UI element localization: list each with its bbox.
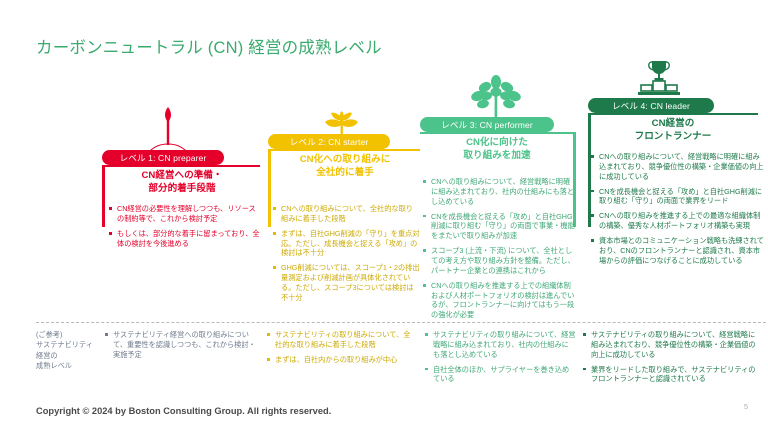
list-item: サステナビリティの取り組みについて、経営戦略に組み込まれており、社内の仕組みにも…	[424, 330, 576, 360]
reference-column-3: サステナビリティの取り組みについて、経営戦略に組み込まれており、社内の仕組みにも…	[424, 330, 576, 389]
page-title: カーボンニュートラル (CN) 経営の成熟レベル	[36, 34, 382, 58]
list-item: もしくは、部分的な着手に留まっており、全体の検討を今後進める	[108, 229, 260, 249]
level-rule-horizontal-2	[268, 149, 420, 151]
level-rule-horizontal-3	[420, 132, 576, 134]
seed-sprout-icon	[138, 99, 198, 156]
list-item: CNへの取り組みについて、全社的な取り組みに着手した段階	[272, 204, 420, 224]
list-item: GHG削減については、スコープ1・2の排出量測定および削減計画が具体化されている…	[272, 263, 420, 302]
list-item: CNへの取り組みを推進する上での最適な組織体制の構築、優秀な人材ポートフォリオ構…	[590, 211, 764, 231]
reference-column-2: サステナビリティの取り組みについて、全社的な取り組みに着手した段階 まずは、自社…	[266, 330, 416, 370]
level-bullets-3: CNへの取り組みについて、経営戦略に明確に組み込まれており、社内の仕組みにも落と…	[422, 177, 576, 325]
level-badge-2[interactable]: レベル 2: CN starter	[268, 134, 390, 149]
level-rule-horizontal-4	[588, 113, 758, 115]
list-item: スコープ3 (上流・下流) について、全社としての考え方や取り組み方針を整備。た…	[422, 246, 576, 276]
level-bullets-2: CNへの取り組みについて、全社的な取り組みに着手した段階 まずは、自社GHG削減…	[272, 204, 420, 308]
list-item: CNへの取り組みを推進する上での組織体制および人材ポートフォリオの検討は進んでい…	[422, 281, 576, 320]
reference-column-4: サステナビリティの取り組みについて、経営戦略に組み込まれており、競争優位性の構築…	[582, 330, 762, 389]
list-item: まずは、自社内からの取り組みが中心	[266, 355, 416, 365]
level-heading-4: CN経営のフロントランナー	[592, 118, 754, 144]
level-badge-1[interactable]: レベル 1: CN preparer	[102, 150, 224, 165]
slide-canvas: カーボンニュートラル (CN) 経営の成熟レベル レベル 1: CN prepa…	[0, 0, 768, 432]
section-divider	[36, 322, 766, 323]
list-item: 資本市場とのコミュニケーション戦略も洗練されており、CNのフロントランナーと認識…	[590, 236, 764, 266]
level-badge-3[interactable]: レベル 3: CN performer	[420, 117, 554, 132]
list-item: CNを成長機会と捉える「攻め」と自社GHG削減に取り組む「守り」の両面で業界をリ…	[590, 187, 764, 207]
list-item: CNを成長機会と捉える「攻め」と自社GHG削減に取り組む「守り」の両面で事業・機…	[422, 212, 576, 242]
list-item: まずは、自社GHG削減の「守り」を重点対応。ただし、成長機会と捉える「攻め」の検…	[272, 229, 420, 259]
list-item: サステナビリティの取り組みについて、全社的な取り組みに着手した段階	[266, 330, 416, 350]
level-heading-1: CN経営への準備・部分的着手段階	[104, 170, 260, 196]
level-badge-4[interactable]: レベル 4: CN leader	[588, 98, 714, 113]
level-heading-2: CN化への取り組みに全社的に着手	[270, 154, 420, 180]
list-item: CN経営の必要性を理解しつつも、リソースの制約等で、これから検討予定	[108, 204, 260, 224]
list-item: CNへの取り組みについて、経営戦略に明確に組み込まれており、社内の仕組みにも落と…	[422, 177, 576, 207]
list-item: 自社全体のほか、サプライヤーを巻き込めている	[424, 365, 576, 385]
list-item: 業界をリードした取り組みで、サステナビリティのフロントランナーと認識されている	[582, 365, 762, 385]
copyright-footer: Copyright © 2024 by Boston Consulting Gr…	[36, 406, 331, 416]
list-item: サステナビリティ経営への取り組みについて、重要性を認識しつつも、これから検討・実…	[104, 330, 256, 360]
page-number: 5	[744, 402, 748, 411]
level-bullets-4: CNへの取り組みについて、経営戦略に明確に組み込まれており、競争優位性の構築・企…	[590, 152, 764, 271]
level-bullets-1: CN経営の必要性を理解しつつも、リソースの制約等で、これから検討予定 もしくは、…	[108, 204, 260, 253]
list-item: CNへの取り組みについて、経営戦略に明確に組み込まれており、競争優位性の構築・企…	[590, 152, 764, 182]
list-item: サステナビリティの取り組みについて、経営戦略に組み込まれており、競争優位性の構築…	[582, 330, 762, 360]
level-rule-horizontal-1	[102, 165, 260, 167]
level-heading-3: CN化に向けた取り組みを加速	[422, 137, 572, 163]
reference-row-label: (ご参考)サステナビリティ経営の成熟レベル	[36, 330, 98, 372]
reference-column-1: サステナビリティ経営への取り組みについて、重要性を認識しつつも、これから検討・実…	[104, 330, 256, 365]
